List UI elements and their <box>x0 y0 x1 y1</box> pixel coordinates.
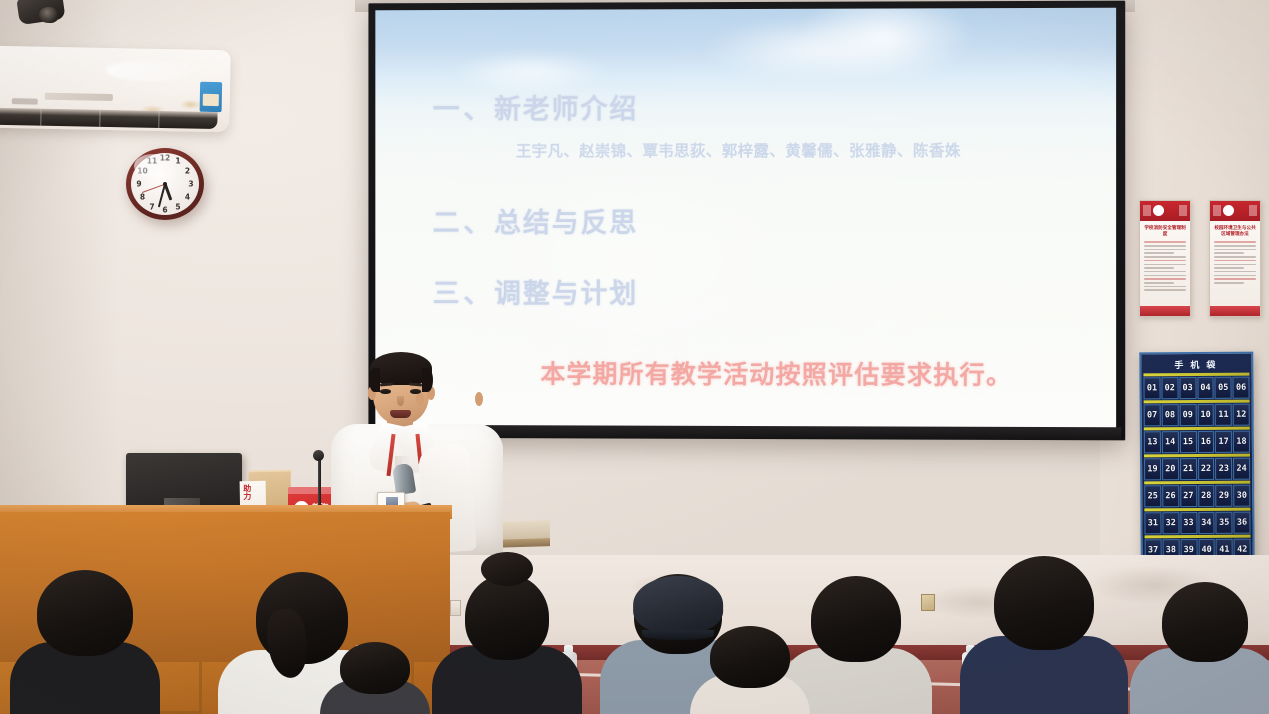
phone-pocket[interactable]: 04 <box>1197 377 1214 399</box>
ac-smudge <box>180 99 202 109</box>
phone-pocket[interactable]: 30 <box>1233 485 1250 507</box>
slide-section-3-heading: 调整与计划 <box>494 279 638 310</box>
school-logo-icon <box>1153 205 1164 216</box>
phone-pocket[interactable]: 10 <box>1197 404 1214 426</box>
phone-pocket-number: 05 <box>1218 383 1228 393</box>
classroom-scene: 121234567891011 一、新老师介绍 王宇凡、赵崇锦、覃韦思荻、郭梓露… <box>0 0 1269 714</box>
phone-pocket-grid: 0102030405060708091011121314151617181920… <box>1143 373 1250 562</box>
presenter-eye <box>380 389 391 394</box>
poster-body-line <box>1214 278 1256 280</box>
audience-head <box>994 556 1094 650</box>
wall-clock: 121234567891011 <box>126 148 204 220</box>
slide-section-2: 二、总结与反思 <box>433 201 1086 240</box>
audience-member <box>432 560 582 714</box>
poster-body-line <box>1214 252 1244 254</box>
poster-body-line <box>1214 275 1256 277</box>
poster-body-line <box>1214 256 1256 258</box>
poster-body-line <box>1214 264 1256 266</box>
phone-pocket[interactable]: 22 <box>1198 458 1215 480</box>
poster-body-line <box>1214 245 1256 247</box>
audience-member <box>960 542 1128 714</box>
clock-numeral: 5 <box>175 202 180 211</box>
audience-head <box>37 570 133 656</box>
poster-body-line <box>1144 245 1186 247</box>
phone-pocket[interactable]: 06 <box>1233 377 1250 399</box>
poster-header-banner <box>1210 201 1260 221</box>
audience-member <box>1130 568 1269 714</box>
audience-member <box>320 628 430 714</box>
slide-section-2-num: 二、 <box>433 208 494 239</box>
small-poster-text: 助力 <box>242 484 253 500</box>
poster-body-line <box>1144 275 1186 277</box>
phone-pocket[interactable]: 05 <box>1215 377 1232 399</box>
poster-body-line <box>1214 271 1256 273</box>
slide-section-3-num: 三、 <box>433 279 494 310</box>
poster-body-line <box>1144 241 1186 243</box>
poster-body-line <box>1144 271 1186 273</box>
phone-pocket-number: 16 <box>1201 437 1211 447</box>
phone-pocket-number: 38 <box>1166 545 1176 555</box>
phone-pocket-number: 40 <box>1201 545 1211 555</box>
presenter-ear <box>416 392 424 406</box>
poster-body-line <box>1214 249 1256 251</box>
phone-pocket-number: 32 <box>1166 518 1176 528</box>
presenter-eye <box>410 389 421 394</box>
presenter-mouth <box>390 410 411 418</box>
slide-teacher-names: 王宇凡、赵崇锦、覃韦思荻、郭梓露、黄馨儒、张雅静、陈香姝 <box>516 139 1086 162</box>
phone-pocket-number: 17 <box>1218 437 1228 447</box>
phone-board-title-char: 机 <box>1190 358 1202 371</box>
phone-pocket[interactable]: 34 <box>1198 512 1215 534</box>
gooseneck-mic-head <box>313 450 324 461</box>
phone-pocket-number: 19 <box>1147 464 1157 474</box>
phone-pocket-number: 42 <box>1237 545 1247 555</box>
phone-pocket-number: 28 <box>1201 491 1211 501</box>
phone-pocket-number: 30 <box>1237 491 1247 501</box>
phone-pocket-number: 41 <box>1219 545 1229 555</box>
poster-body-line <box>1144 286 1186 288</box>
phone-pocket-number: 27 <box>1183 491 1193 501</box>
poster-body-line <box>1144 264 1186 266</box>
phone-pocket-number: 33 <box>1183 518 1193 528</box>
slide-section-1: 一、新老师介绍 <box>433 86 1086 126</box>
phone-pocket-number: 22 <box>1201 464 1211 474</box>
poster-org-name <box>1236 207 1237 212</box>
slide-section-1-num: 一、 <box>433 95 494 126</box>
phone-pocket-number: 23 <box>1219 464 1229 474</box>
phone-pocket[interactable]: 33 <box>1180 512 1197 534</box>
phone-pocket[interactable]: 23 <box>1215 458 1232 480</box>
poster-title: 校园环境卫生与公共区域管理办法 <box>1213 226 1257 238</box>
phone-pocket-number: 24 <box>1237 464 1247 474</box>
phone-pocket[interactable]: 36 <box>1234 512 1251 534</box>
poster-body-line <box>1144 278 1186 280</box>
phone-pocket-number: 13 <box>1147 437 1157 447</box>
ac-energy-label <box>200 82 223 112</box>
phone-pocket-number: 02 <box>1165 383 1175 393</box>
clock-numeral: 7 <box>149 202 154 211</box>
ac-logo <box>12 98 38 104</box>
phone-pocket-number: 15 <box>1183 437 1193 447</box>
poster-body-line <box>1144 289 1186 291</box>
poster-footer-banner <box>1210 306 1260 316</box>
poster-body-line <box>1214 267 1244 269</box>
clock-numeral: 10 <box>137 167 147 176</box>
audience-head <box>811 576 901 662</box>
poster-body-line <box>1144 282 1174 284</box>
poster-org-name <box>1166 207 1167 212</box>
phone-pocket[interactable]: 28 <box>1198 485 1215 507</box>
phone-pocket[interactable]: 01 <box>1143 377 1160 399</box>
slide-section-1-heading: 新老师介绍 <box>494 94 638 125</box>
ac-sheen <box>105 60 195 82</box>
phone-pocket-number: 20 <box>1165 464 1175 474</box>
phone-pocket-number: 11 <box>1218 410 1228 420</box>
ac-display-panel <box>45 93 113 101</box>
poster-title: 学校消防安全管理制度 <box>1143 226 1187 238</box>
slide-section-3: 三、调整与计划 <box>433 272 1086 312</box>
phone-pocket-number: 08 <box>1165 410 1175 420</box>
phone-pocket-number: 10 <box>1200 410 1210 420</box>
poster-header-banner <box>1140 201 1190 221</box>
poster-body-line <box>1144 256 1186 258</box>
clock-minute-hand <box>158 184 166 208</box>
phone-pocket-number: 21 <box>1183 464 1193 474</box>
audience-head <box>340 642 410 694</box>
phone-pocket[interactable]: 13 <box>1144 431 1161 453</box>
phone-pocket-number: 34 <box>1201 518 1211 528</box>
phone-pocket-number: 37 <box>1148 545 1158 555</box>
phone-pocket[interactable]: 07 <box>1144 404 1161 426</box>
phone-pocket[interactable]: 14 <box>1162 431 1179 453</box>
phone-pocket[interactable]: 32 <box>1162 512 1179 534</box>
clock-center-pin <box>163 182 167 186</box>
phone-pocket-number: 03 <box>1182 383 1192 393</box>
clock-face: 121234567891011 <box>131 153 199 215</box>
poster-body-line <box>1144 260 1186 262</box>
phone-pocket-number: 04 <box>1200 383 1210 393</box>
phone-pocket[interactable]: 11 <box>1215 404 1232 426</box>
clock-numeral: 6 <box>162 206 167 215</box>
phone-pocket[interactable]: 18 <box>1233 431 1250 453</box>
presenter-hair-side <box>422 368 433 392</box>
presenter-hair-side <box>369 368 380 392</box>
phone-pocket[interactable]: 35 <box>1216 512 1233 534</box>
phone-pocket-number: 39 <box>1184 545 1194 555</box>
phone-pocket[interactable]: 03 <box>1179 377 1196 399</box>
phone-pocket-number: 12 <box>1236 410 1246 420</box>
air-conditioner <box>0 46 231 133</box>
phone-pocket-number: 14 <box>1165 437 1175 447</box>
phone-pocket-number: 18 <box>1236 437 1246 447</box>
presenter-nose <box>397 396 404 406</box>
phone-pocket[interactable]: 29 <box>1216 485 1233 507</box>
phone-pocket[interactable]: 08 <box>1161 404 1178 426</box>
phone-pocket[interactable]: 19 <box>1144 458 1161 480</box>
poster-body-line <box>1214 241 1256 243</box>
phone-pocket[interactable]: 09 <box>1179 404 1196 426</box>
phone-pocket[interactable]: 17 <box>1215 431 1232 453</box>
phone-pocket-number: 07 <box>1147 410 1157 420</box>
phone-pocket[interactable]: 15 <box>1179 431 1196 453</box>
slide-section-2-heading: 总结与反思 <box>494 208 638 239</box>
phone-pocket-number: 01 <box>1147 383 1157 393</box>
phone-pocket-number: 35 <box>1219 518 1229 528</box>
slide-red-statement: 本学期所有教学活动按照评估要求执行。 <box>468 354 1085 392</box>
phone-pocket-number: 26 <box>1165 491 1175 501</box>
school-logo-icon <box>1223 205 1234 216</box>
clock-numeral: 1 <box>175 157 180 166</box>
phone-pocket-number: 31 <box>1148 518 1158 528</box>
phone-pocket[interactable]: 21 <box>1180 458 1197 480</box>
clock-numeral: 3 <box>188 180 193 189</box>
phone-pocket[interactable]: 27 <box>1180 485 1197 507</box>
poster-body-line <box>1214 260 1256 262</box>
clock-numeral: 11 <box>147 157 157 166</box>
wall-poster-right: 校园环境卫生与公共区域管理办法 <box>1209 200 1261 317</box>
phone-pocket[interactable]: 20 <box>1162 458 1179 480</box>
phone-board-title-char: 袋 <box>1206 358 1218 371</box>
phone-pocket-board: 手 机 袋 0102030405060708091011121314151617… <box>1139 352 1254 561</box>
poster-footer-banner <box>1140 306 1190 316</box>
phone-pocket[interactable]: 24 <box>1233 458 1250 480</box>
phone-pocket[interactable]: 02 <box>1161 377 1178 399</box>
clock-numeral: 12 <box>160 154 170 163</box>
presenter-ear <box>475 392 483 406</box>
phone-pocket-number: 06 <box>1236 383 1246 393</box>
camera-lens-icon <box>38 6 59 23</box>
phone-pocket[interactable]: 26 <box>1162 485 1179 507</box>
clock-numeral: 4 <box>185 193 190 202</box>
phone-pocket-number: 29 <box>1219 491 1229 501</box>
poster-body-line <box>1144 249 1186 251</box>
phone-board-title: 手 机 袋 <box>1143 356 1249 374</box>
poster-body-line <box>1144 267 1174 269</box>
audience-head <box>710 626 790 688</box>
audience-head <box>1162 582 1248 662</box>
poster-body-line <box>1214 282 1244 284</box>
phone-pocket-number: 25 <box>1148 491 1158 501</box>
poster-body-line <box>1144 252 1174 254</box>
phone-pocket-number: 09 <box>1183 410 1193 420</box>
phone-pocket[interactable]: 12 <box>1233 404 1250 426</box>
ac-vent <box>0 108 218 130</box>
phone-pocket[interactable]: 31 <box>1144 512 1161 534</box>
clock-numeral: 2 <box>185 167 190 176</box>
wall-poster-left: 学校消防安全管理制度 <box>1139 200 1191 317</box>
phone-pocket-number: 36 <box>1237 518 1247 528</box>
audience-member <box>10 556 160 714</box>
phone-pocket[interactable]: 16 <box>1197 431 1214 453</box>
phone-board-title-char: 手 <box>1174 358 1186 371</box>
audience-head <box>465 574 549 660</box>
audience-member <box>690 612 810 714</box>
clock-numeral: 8 <box>140 193 145 202</box>
phone-pocket[interactable]: 25 <box>1144 485 1161 507</box>
clock-numeral: 9 <box>136 180 141 189</box>
